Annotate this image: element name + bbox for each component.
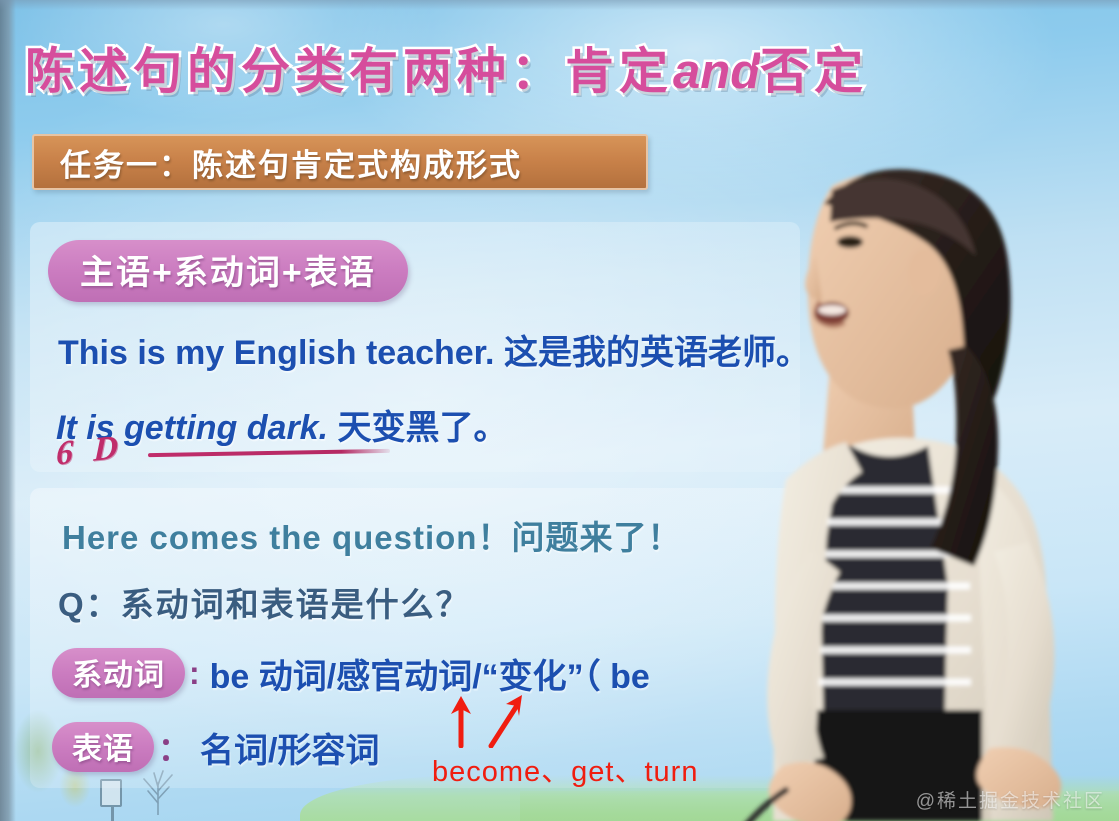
question-text: Q：系动词和表语是什么？ (58, 578, 471, 626)
predicative-pill: 表语 (52, 722, 154, 772)
example-sentence-1-zh: 这是我的英语老师。 (504, 334, 810, 372)
example-sentence-1-en: This is my English teacher. (58, 334, 495, 372)
task-banner-label: 任务一：陈述句肯定式构成形式 (60, 140, 522, 185)
annotation-arrow-diagonal-icon (486, 692, 526, 748)
projection-screen-top-edge (0, 0, 1119, 10)
definition-row-linking-verb: 系动词 : be 动词/感官动词/“变化”（ be (52, 648, 650, 698)
structure-formula-pill: 主语+系动词+表语 (48, 240, 408, 302)
page-title-zh-after: 否定 (760, 45, 868, 99)
annotation-text: become、get、turn (432, 748, 698, 790)
predicative-colon: ： (158, 724, 190, 770)
question-heading: Here comes the question！问题来了！ (62, 511, 681, 559)
predicative-definition: 名词/形容词 (200, 723, 379, 772)
annotation-arrow-up-icon (448, 694, 474, 748)
page-title: 陈述句的分类有两种：肯定and否定 (25, 32, 1005, 103)
linking-verb-pill: 系动词 (52, 648, 185, 698)
projection-screen-left-edge (0, 0, 16, 821)
handwritten-mark: 6 D (56, 428, 125, 473)
example-sentence-1: This is my English teacher. 这是我的英语老师。 (58, 325, 810, 374)
watermark: @稀土掘金技术社区 (916, 786, 1105, 813)
example-sentence-2-zh: 天变黑了。 (338, 409, 508, 447)
screenshot-root: 陈述句的分类有两种：肯定and否定 任务一：陈述句肯定式构成形式 主语+系动词+… (0, 0, 1119, 821)
question-heading-en: Here comes the question！ (62, 519, 511, 556)
definition-row-predicative: 表语 ： 名词/形容词 (52, 722, 379, 772)
page-title-zh-before: 陈述句的分类有两种：肯定 (25, 45, 673, 99)
task-banner: 任务一：陈述句肯定式构成形式 (32, 134, 648, 190)
linking-verb-definition: be 动词/感官动词/“变化”（ be (210, 649, 650, 698)
question-heading-zh: 问题来了！ (511, 519, 681, 556)
linking-verb-colon: : (189, 655, 200, 692)
page-title-en: and (673, 45, 760, 99)
